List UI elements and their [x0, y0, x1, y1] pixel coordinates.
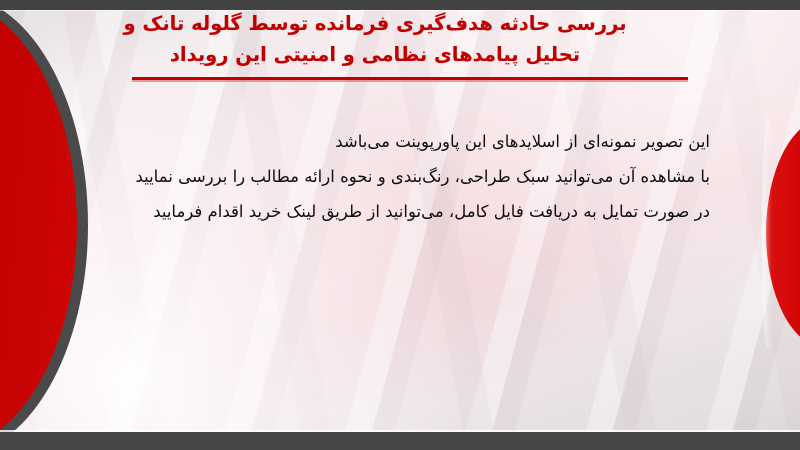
- right-red-ellipse-highlight: [762, 118, 772, 348]
- frame-band-bottom: [0, 432, 800, 450]
- title-divider-rule: [132, 77, 688, 80]
- slide-body-line-3: در صورت تمایل به دریافت فایل کامل، می‌تو…: [70, 194, 710, 229]
- slide-title-line-1: بررسی حادثه هدف‌گیری فرمانده توسط گلوله …: [60, 8, 690, 39]
- slide-title-line-2: تحلیل پیامدهای نظامی و امنیتی این رویداد: [60, 39, 690, 70]
- slide-body-line-1: این تصویر نمونه‌ای از اسلایدهای این پاور…: [70, 124, 710, 159]
- slide-title: بررسی حادثه هدف‌گیری فرمانده توسط گلوله …: [60, 8, 690, 70]
- slide-body: این تصویر نمونه‌ای از اسلایدهای این پاور…: [70, 124, 710, 229]
- presentation-slide: بررسی حادثه هدف‌گیری فرمانده توسط گلوله …: [0, 0, 800, 450]
- slide-body-line-2: با مشاهده آن می‌توانید سبک طراحی، رنگ‌بن…: [70, 159, 710, 194]
